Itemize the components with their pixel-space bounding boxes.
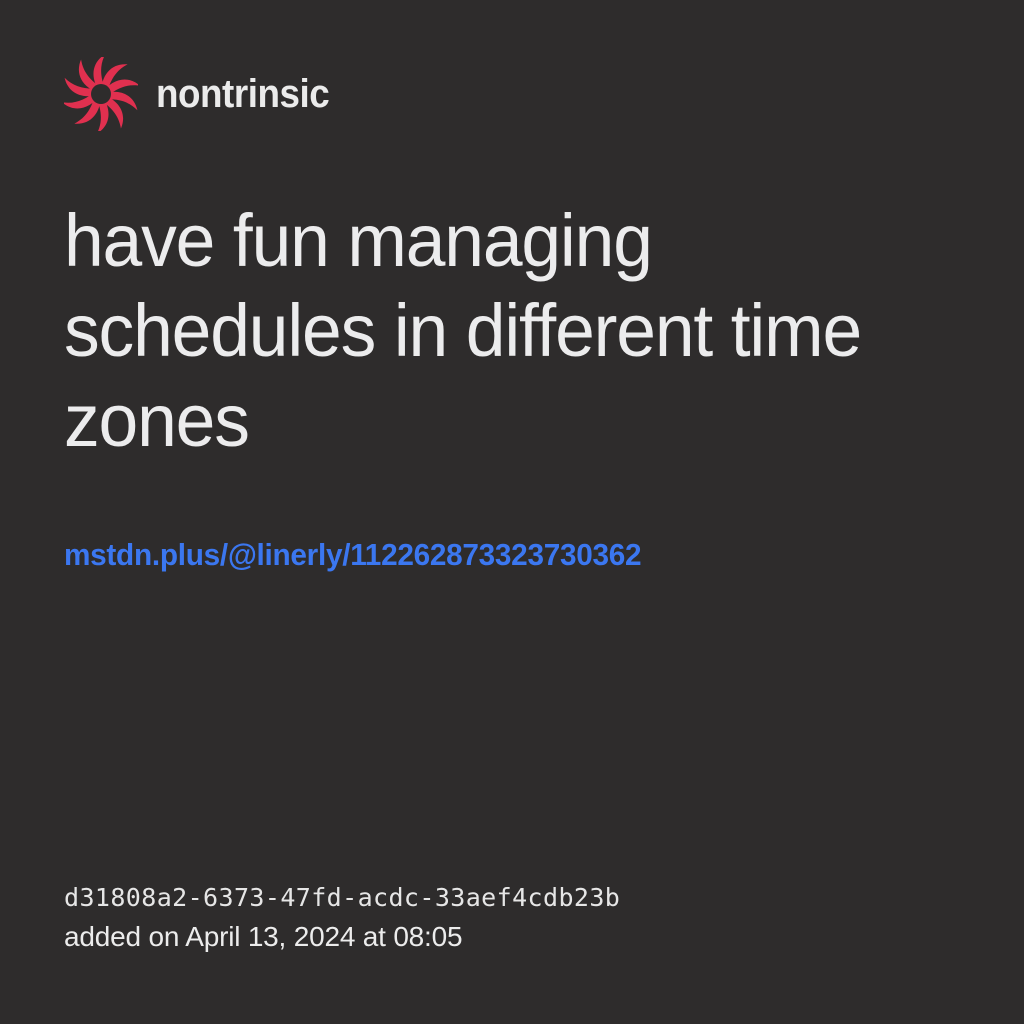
page-title: have fun managing schedules in different… [64,196,944,466]
brand-name: nontrinsic [156,74,329,114]
spiral-swirl-icon [64,57,138,131]
source-url-link[interactable]: mstdn.plus/@linerly/112262873323730362 [64,537,641,573]
bookmark-card: nontrinsic have fun managing schedules i… [0,0,1024,1024]
record-added-timestamp: added on April 13, 2024 at 08:05 [64,920,620,954]
record-meta: d31808a2-6373-47fd-acdc-33aef4cdb23b add… [64,882,620,954]
brand-header[interactable]: nontrinsic [64,57,344,131]
record-id: d31808a2-6373-47fd-acdc-33aef4cdb23b [64,882,620,914]
